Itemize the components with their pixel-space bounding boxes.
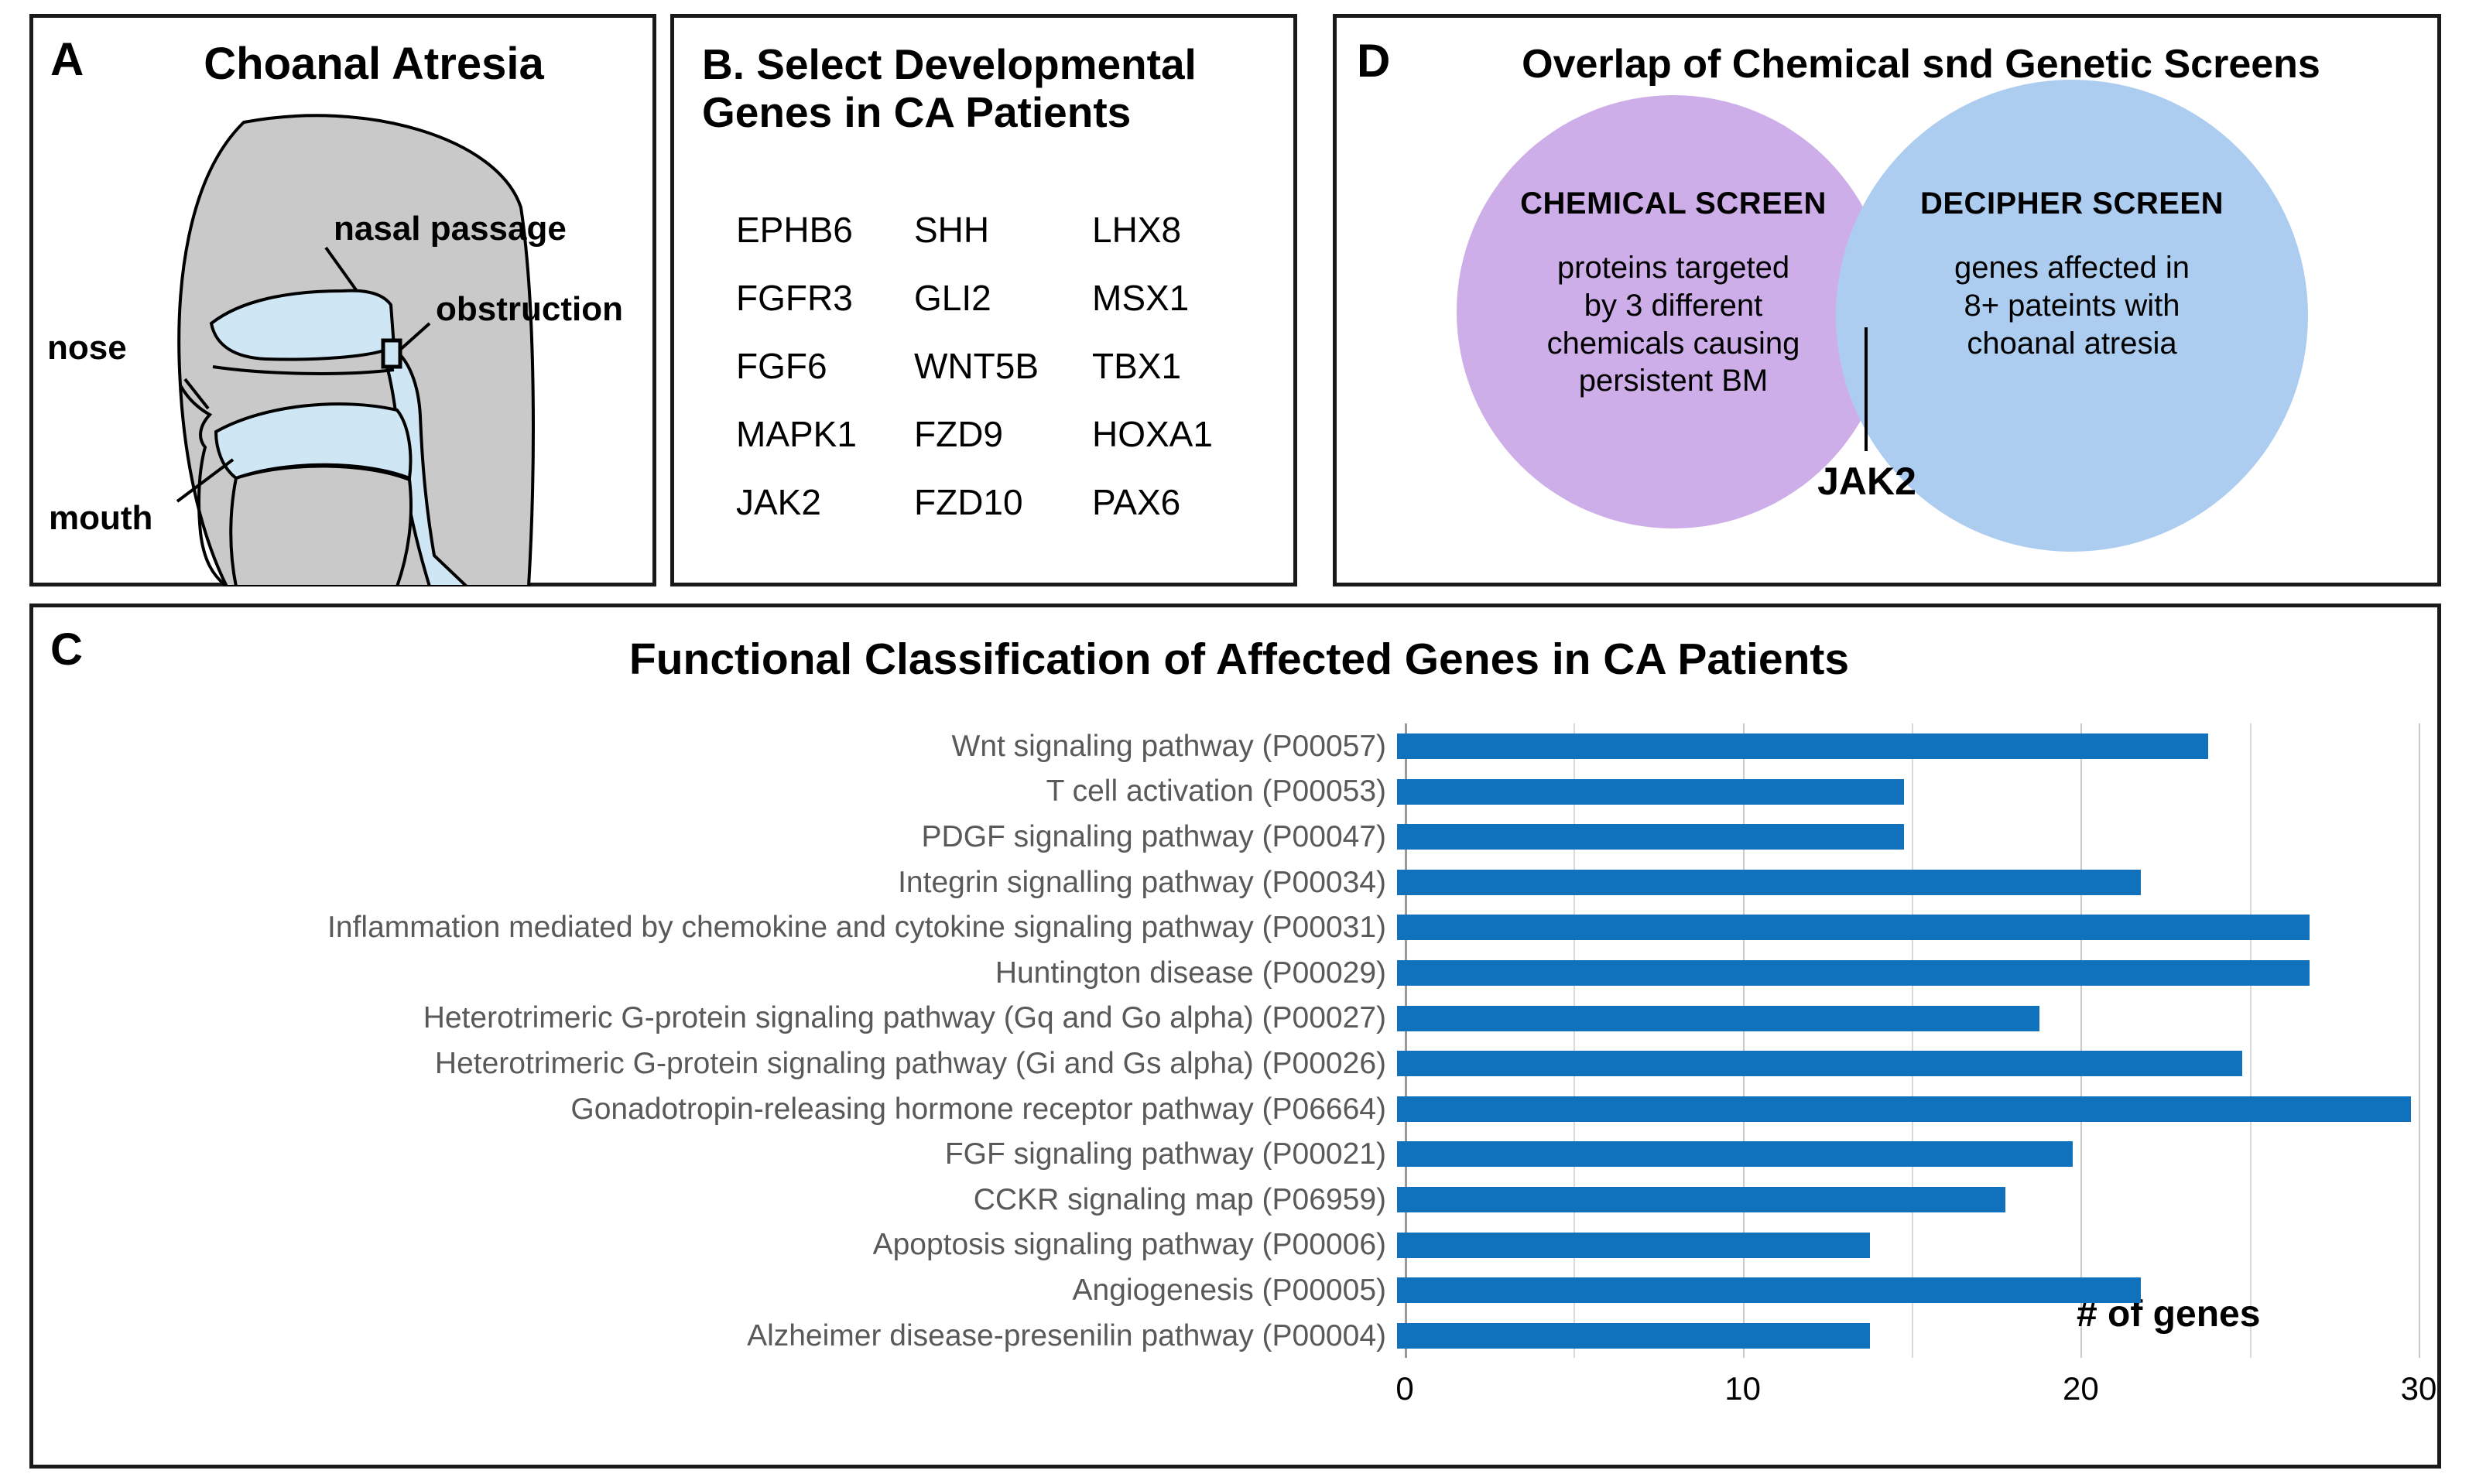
bar xyxy=(1397,779,1904,805)
label-nose: nose xyxy=(47,329,127,367)
bar xyxy=(1397,960,2310,986)
bar-track xyxy=(1397,1267,2419,1313)
bar-category-label: PDGF signaling pathway (P00047) xyxy=(33,822,1397,852)
bar xyxy=(1397,1141,2073,1167)
panel-a-title: Choanal Atresia xyxy=(33,38,660,90)
panel-b: B. Select Developmental Genes in CA Pati… xyxy=(670,14,1297,586)
gene-item: PAX6 xyxy=(1092,481,1247,523)
decipher-screen-body: genes affected in8+ pateints withchoanal… xyxy=(1954,249,2190,362)
bar xyxy=(1397,1006,2039,1031)
x-tick-label: 30 xyxy=(2401,1370,2437,1407)
bar-category-label: Inflammation mediated by chemokine and c… xyxy=(33,912,1397,942)
bar-track xyxy=(1397,904,2419,950)
tongue xyxy=(231,466,411,586)
gene-item: FGF6 xyxy=(736,345,914,387)
bar-row: Heterotrimeric G-protein signaling pathw… xyxy=(33,996,2445,1041)
bar-row: Alzheimer disease-presenilin pathway (P0… xyxy=(33,1313,2445,1359)
decipher-screen-heading: DECIPHER SCREEN xyxy=(1920,186,2224,221)
bar-category-label: FGF signaling pathway (P00021) xyxy=(33,1139,1397,1169)
bar-category-label: Integrin signalling pathway (P00034) xyxy=(33,867,1397,898)
bar-track xyxy=(1397,1086,2419,1132)
label-obstruction: obstruction xyxy=(436,290,623,328)
bar-track xyxy=(1397,1041,2419,1086)
bar-row: Apoptosis signaling pathway (P00006) xyxy=(33,1222,2445,1268)
bar-track xyxy=(1397,1131,2419,1177)
panel-b-title: B. Select Developmental Genes in CA Pati… xyxy=(702,41,1275,136)
bar-row: CCKR signaling map (P06959) xyxy=(33,1177,2445,1222)
bar xyxy=(1397,1187,2005,1212)
bar-category-label: T cell activation (P00053) xyxy=(33,776,1397,806)
gene-item: MAPK1 xyxy=(736,413,914,455)
x-tick-label: 10 xyxy=(1724,1370,1761,1407)
jak2-leader-line xyxy=(1865,327,1868,451)
panel-d-letter: D xyxy=(1357,38,1390,84)
bar-track xyxy=(1397,814,2419,860)
gene-item: FZD9 xyxy=(914,413,1092,455)
functional-classification-bar-chart: # of genes Wnt signaling pathway (P00057… xyxy=(33,716,2445,1451)
gene-item: MSX1 xyxy=(1092,277,1247,319)
bar-row: Integrin signalling pathway (P00034) xyxy=(33,860,2445,905)
figure-root: A Choanal Atresia xyxy=(0,0,2469,1484)
bar-row: Huntington disease (P00029) xyxy=(33,950,2445,996)
choanal-atresia-diagram: nasal passage nose obstruction mouth xyxy=(33,91,660,586)
jak2-intersection-label: JAK2 xyxy=(1778,459,1956,504)
bar-row: PDGF signaling pathway (P00047) xyxy=(33,814,2445,860)
bar-category-label: Alzheimer disease-presenilin pathway (P0… xyxy=(33,1321,1397,1351)
bar-track xyxy=(1397,860,2419,905)
bar-category-label: Wnt signaling pathway (P00057) xyxy=(33,731,1397,761)
x-tick-label: 20 xyxy=(2063,1370,2099,1407)
bar xyxy=(1397,1096,2411,1122)
gene-list: EPHB6SHHLHX8FGFR3GLI2MSX1FGF6WNT5BTBX1MA… xyxy=(736,196,1247,536)
x-tick-label: 0 xyxy=(1395,1370,1413,1407)
bar-track xyxy=(1397,769,2419,815)
gene-item: TBX1 xyxy=(1092,345,1247,387)
bar-row: Gonadotropin-releasing hormone receptor … xyxy=(33,1086,2445,1132)
bar xyxy=(1397,870,2141,895)
label-mouth: mouth xyxy=(49,499,152,537)
bar-category-label: Apoptosis signaling pathway (P00006) xyxy=(33,1229,1397,1260)
gene-item: LHX8 xyxy=(1092,209,1247,251)
chemical-screen-heading: CHEMICAL SCREEN xyxy=(1520,186,1827,221)
bar xyxy=(1397,733,2208,759)
bar xyxy=(1397,824,1904,850)
bar xyxy=(1397,1277,2141,1303)
gene-item: FZD10 xyxy=(914,481,1092,523)
bar xyxy=(1397,915,2310,940)
gene-item: WNT5B xyxy=(914,345,1092,387)
gene-item: EPHB6 xyxy=(736,209,914,251)
gene-item: JAK2 xyxy=(736,481,914,523)
bar-track xyxy=(1397,1313,2419,1359)
bar-track xyxy=(1397,1222,2419,1268)
bar-row: T cell activation (P00053) xyxy=(33,769,2445,815)
bar-category-label: Heterotrimeric G-protein signaling pathw… xyxy=(33,1048,1397,1079)
panel-a: A Choanal Atresia xyxy=(29,14,656,586)
gene-item: GLI2 xyxy=(914,277,1092,319)
bar-category-label: Heterotrimeric G-protein signaling pathw… xyxy=(33,1003,1397,1033)
bar xyxy=(1397,1233,1870,1258)
panel-d: D Overlap of Chemical snd Genetic Screen… xyxy=(1333,14,2441,586)
bar-row: Wnt signaling pathway (P00057) xyxy=(33,723,2445,769)
bar-track xyxy=(1397,996,2419,1041)
obstruction-membrane xyxy=(383,340,400,367)
bar-track xyxy=(1397,950,2419,996)
bar-track xyxy=(1397,1177,2419,1222)
bar-category-label: Gonadotropin-releasing hormone receptor … xyxy=(33,1094,1397,1124)
bar-category-label: CCKR signaling map (P06959) xyxy=(33,1185,1397,1215)
label-nasal-passage: nasal passage xyxy=(334,210,567,248)
gene-item: HOXA1 xyxy=(1092,413,1247,455)
bar-track xyxy=(1397,723,2419,769)
bar-row: Angiogenesis (P00005) xyxy=(33,1267,2445,1313)
bar-category-label: Angiogenesis (P00005) xyxy=(33,1275,1397,1305)
bar-row: Heterotrimeric G-protein signaling pathw… xyxy=(33,1041,2445,1086)
panel-d-title: Overlap of Chemical snd Genetic Screens xyxy=(1422,41,2420,87)
bar xyxy=(1397,1051,2242,1076)
bar xyxy=(1397,1323,1870,1349)
panel-c-title: Functional Classification of Affected Ge… xyxy=(33,634,2445,685)
bar-row: FGF signaling pathway (P00021) xyxy=(33,1131,2445,1177)
bar-row: Inflammation mediated by chemokine and c… xyxy=(33,904,2445,950)
panel-c: C Functional Classification of Affected … xyxy=(29,604,2441,1469)
chemical-screen-body: proteins targetedby 3 differentchemicals… xyxy=(1547,249,1800,400)
bar-category-label: Huntington disease (P00029) xyxy=(33,958,1397,988)
gene-item: FGFR3 xyxy=(736,277,914,319)
gene-item: SHH xyxy=(914,209,1092,251)
